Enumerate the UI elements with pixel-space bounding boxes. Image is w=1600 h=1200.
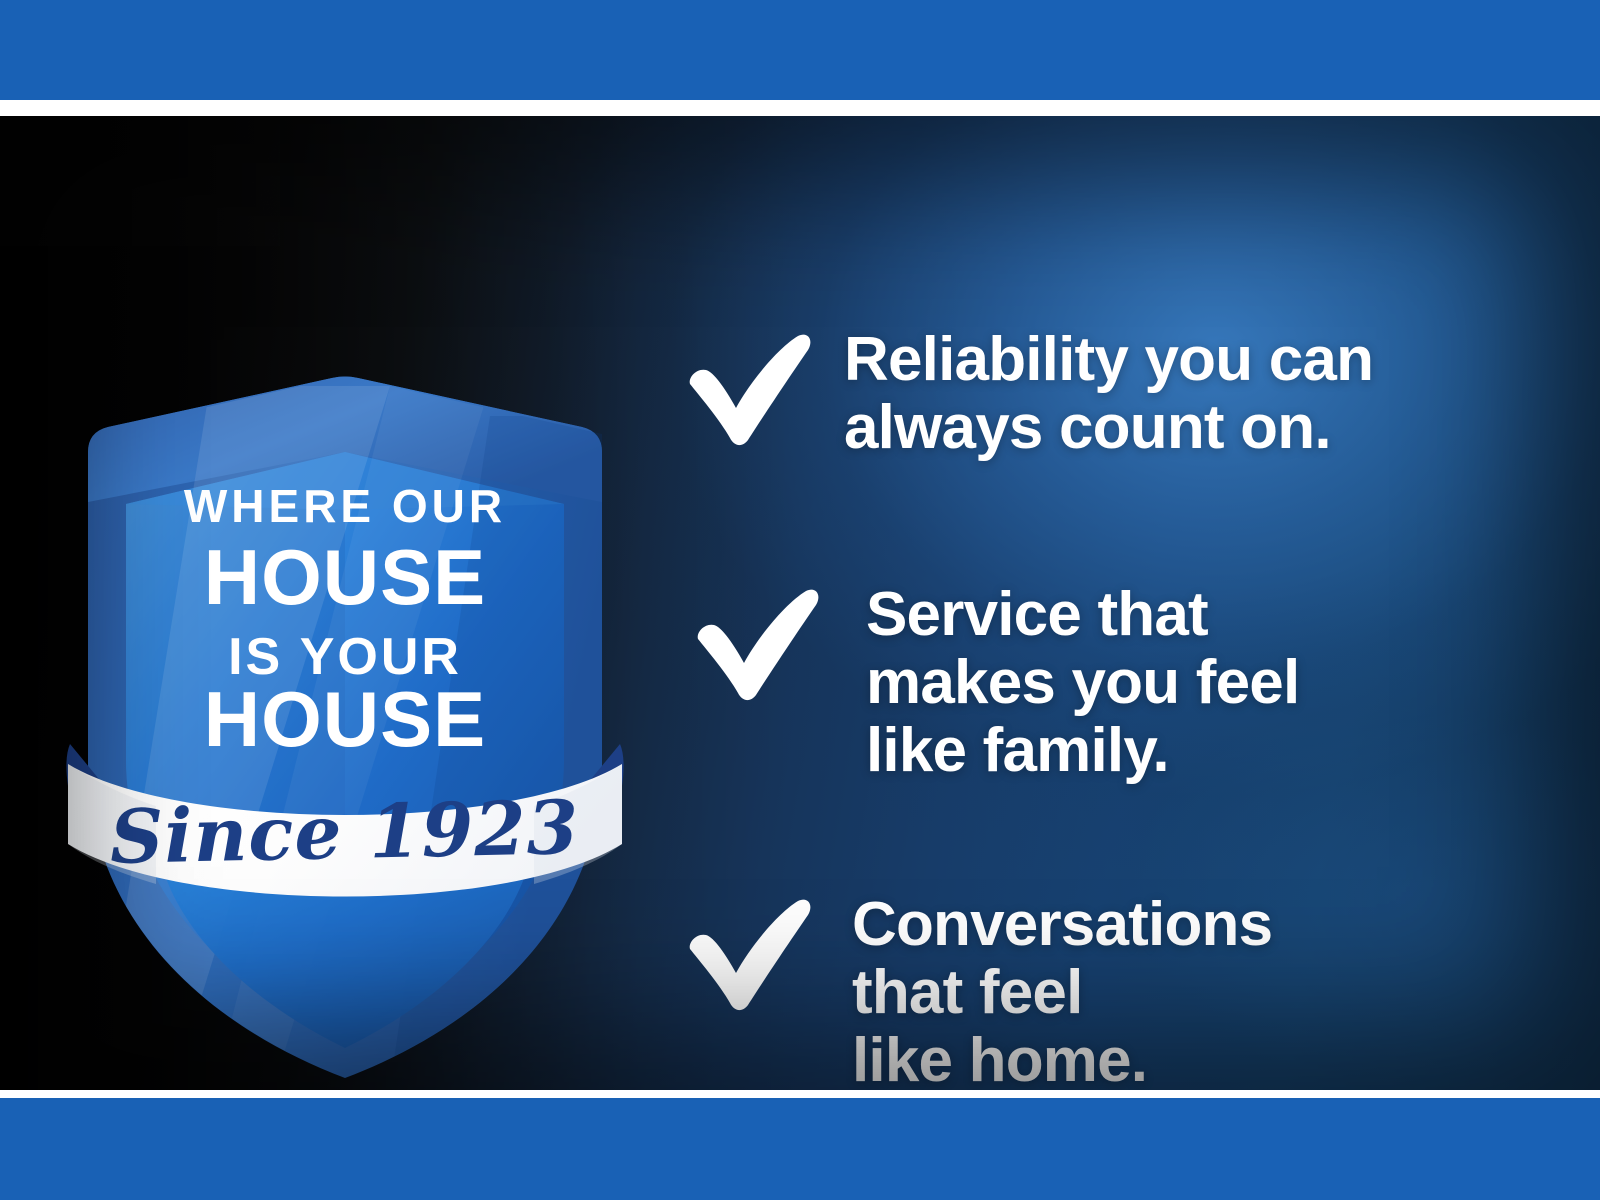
promo-graphic: WHERE OUR HOUSE IS YOUR HOUSE Since 1923	[0, 0, 1600, 1200]
content-stage: WHERE OUR HOUSE IS YOUR HOUSE Since 1923	[0, 116, 1600, 1090]
top-brand-bar	[0, 0, 1600, 100]
bottom-brand-bar	[0, 1098, 1600, 1200]
background-vignette	[0, 116, 1600, 1090]
